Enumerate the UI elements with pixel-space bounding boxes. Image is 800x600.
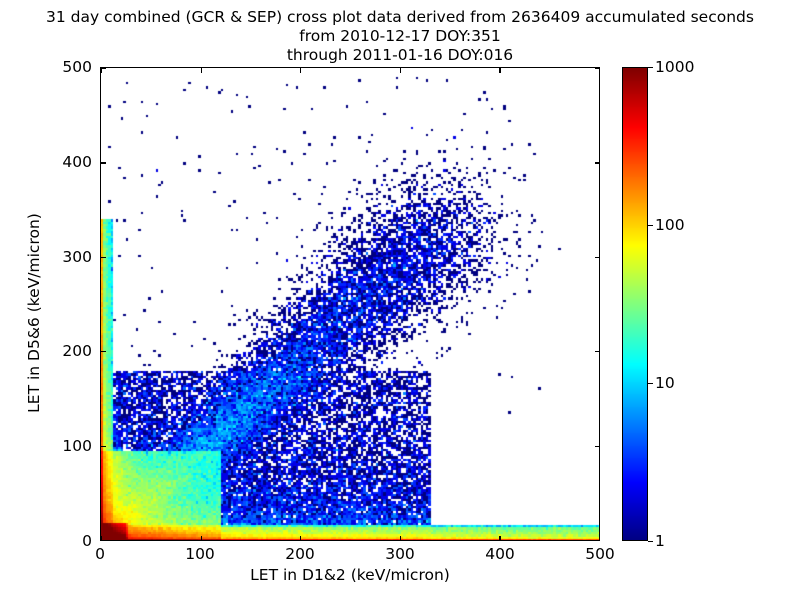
- y-axis-tick: [101, 446, 106, 447]
- x-tick-label-500: 500: [585, 545, 615, 563]
- y-axis-tick-right: [595, 446, 600, 447]
- colorbar: [622, 67, 648, 541]
- colorbar-gradient: [623, 68, 648, 541]
- x-axis-tick: [599, 536, 600, 541]
- x-axis-tick: [201, 536, 202, 541]
- colorbar-tick-10: [648, 383, 653, 384]
- x-axis-tick-top: [201, 68, 202, 73]
- x-axis-label: LET in D1&2 (keV/micron): [100, 566, 600, 584]
- colorbar-label-1: 1: [655, 532, 665, 550]
- figure-canvas: 31 day combined (GCR & SEP) cross plot d…: [0, 0, 800, 600]
- y-axis-tick: [101, 68, 106, 69]
- heatmap-data-layer: [101, 68, 600, 541]
- x-tick-label-0: 0: [95, 545, 105, 563]
- plot-title: 31 day combined (GCR & SEP) cross plot d…: [0, 8, 800, 65]
- x-tick-label-300: 300: [385, 545, 415, 563]
- y-axis-tick-right: [595, 540, 600, 541]
- y-axis-tick-right: [595, 162, 600, 163]
- x-axis-tick-top: [300, 68, 301, 73]
- y-axis-tick-right: [595, 351, 600, 352]
- x-axis-tick-top: [499, 68, 500, 73]
- y-axis-tick: [101, 162, 106, 163]
- colorbar-label-10: 10: [655, 374, 675, 392]
- x-tick-label-200: 200: [285, 545, 315, 563]
- y-axis-tick-right: [595, 68, 600, 69]
- y-axis-tick-right: [595, 257, 600, 258]
- x-axis-tick: [400, 536, 401, 541]
- colorbar-tick-100: [648, 225, 653, 226]
- x-axis-tick-top: [400, 68, 401, 73]
- colorbar-tick-1: [648, 541, 653, 542]
- x-axis-tick: [499, 536, 500, 541]
- y-axis-tick: [101, 540, 106, 541]
- y-axis-tick: [101, 257, 106, 258]
- x-axis-tick-top: [599, 68, 600, 73]
- y-tick-label-500: 500: [32, 58, 92, 76]
- scatter-plot-axes: [100, 67, 600, 541]
- title-line-1: 31 day combined (GCR & SEP) cross plot d…: [0, 8, 800, 27]
- y-axis-label: LET in D5&6 (keV/micron): [25, 76, 43, 550]
- y-axis-tick: [101, 351, 106, 352]
- colorbar-label-1000: 1000: [655, 58, 694, 76]
- colorbar-label-100: 100: [655, 216, 685, 234]
- colorbar-tick-1000: [648, 67, 653, 68]
- x-axis-tick: [300, 536, 301, 541]
- x-tick-label-400: 400: [485, 545, 515, 563]
- x-tick-label-100: 100: [185, 545, 215, 563]
- title-line-2: from 2010-12-17 DOY:351: [0, 27, 800, 46]
